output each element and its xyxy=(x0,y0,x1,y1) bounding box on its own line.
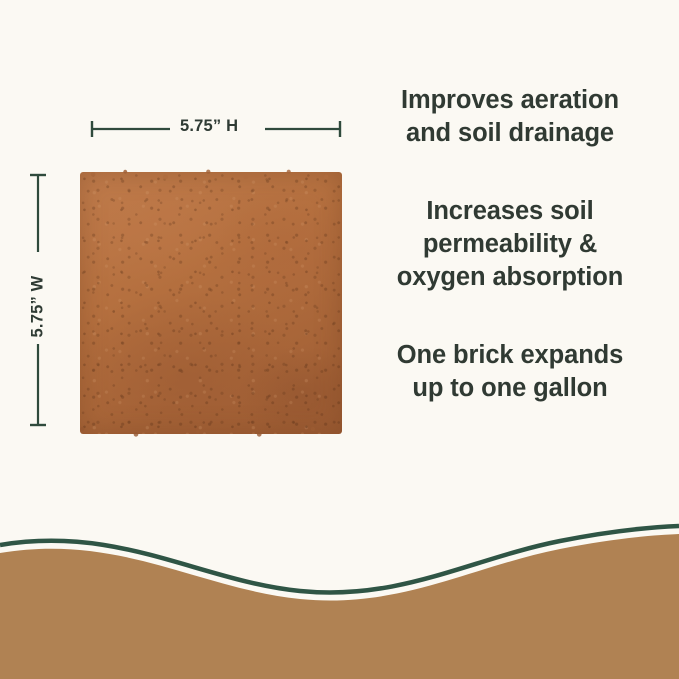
feature-list: Improves aeration and soil drainage Incr… xyxy=(366,84,654,404)
brick-texture-overlay xyxy=(80,172,342,434)
feature-item-expansion: One brick expands up to one gallon xyxy=(366,339,654,404)
feature-line: One brick expands xyxy=(366,339,654,372)
feature-item-permeability: Increases soil permeability & oxygen abs… xyxy=(366,195,654,293)
dimension-left-label: 5.75” W xyxy=(29,259,48,355)
feature-line: up to one gallon xyxy=(366,372,654,405)
feature-line: and soil drainage xyxy=(366,117,654,150)
feature-item-aeration: Improves aeration and soil drainage xyxy=(366,84,654,149)
bottom-wave-decoration xyxy=(0,519,679,679)
feature-line: Improves aeration xyxy=(366,84,654,117)
dimension-top-label: 5.75” H xyxy=(180,117,238,136)
product-infographic: 5.75” H 5.75” W Improves aeration and so… xyxy=(0,0,679,679)
feature-line: Increases soil xyxy=(366,195,654,228)
feature-line: permeability & xyxy=(366,228,654,261)
wave-fill xyxy=(0,534,679,679)
feature-line: oxygen absorption xyxy=(366,261,654,294)
product-image xyxy=(80,172,342,434)
